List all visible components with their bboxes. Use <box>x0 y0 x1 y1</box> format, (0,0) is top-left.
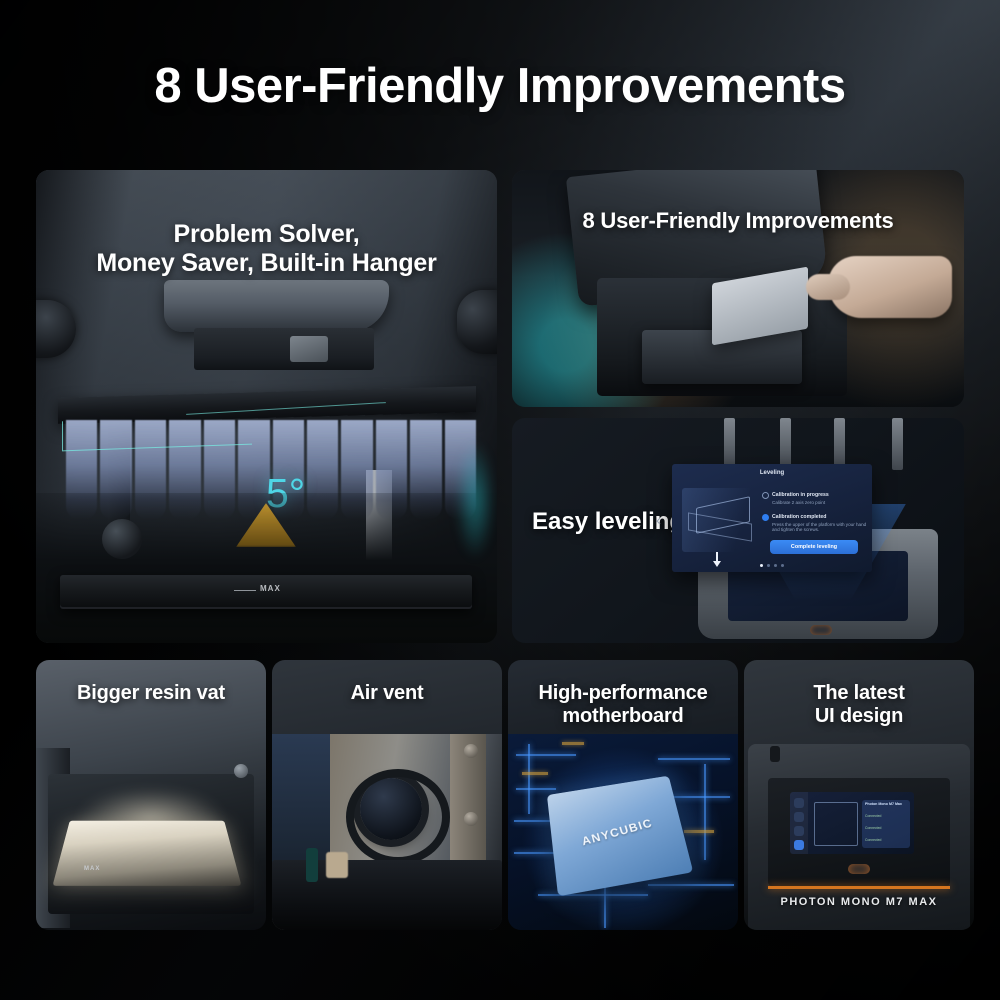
air-vent-cup <box>326 852 348 878</box>
resin-vat-photo: MAX <box>36 738 266 930</box>
improvements-hand <box>828 256 952 318</box>
printer-status-2: Connected <box>865 826 881 830</box>
leveling-printer-illustration: Leveling Calibration in progress Calibra… <box>692 418 950 643</box>
resin-vat-bolt-icon <box>234 764 248 778</box>
printer-status-3: Connected <box>865 838 881 842</box>
anycubic-chip: ANYCUBIC <box>547 776 693 897</box>
printer-brand-label: PHOTON MONO M7 MAX <box>748 896 970 908</box>
hanger-carriage <box>194 328 374 370</box>
leveling-step-2-dot-icon <box>762 514 769 521</box>
card-motherboard-label: High-performance motherboard <box>508 682 738 728</box>
hanger-vat-max-mark: MAX <box>260 584 281 593</box>
leveling-diagram-icon <box>682 488 764 552</box>
card-resin-vat-label: Bigger resin vat <box>36 682 266 705</box>
card-air-vent[interactable]: Air vent <box>272 660 502 930</box>
hanger-resin-vat: MAX <box>60 575 472 609</box>
printer-model-preview-icon <box>814 802 858 846</box>
resin-vat-tray <box>52 821 241 886</box>
air-vent-fan-icon <box>360 778 422 840</box>
leveling-home-button-icon <box>810 625 832 635</box>
printer-front-body: Photon Mono M7 Max Connected Connected C… <box>748 744 970 930</box>
leveling-pagination-dots[interactable] <box>760 564 784 567</box>
leveling-prev-chevron-icon[interactable]: ‹ <box>656 512 661 529</box>
leveling-step-1-title: Calibration in progress <box>772 492 829 499</box>
hanger-hood <box>164 280 389 332</box>
card-hanger-label: Problem Solver, Money Saver, Built-in Ha… <box>36 220 497 278</box>
poster-root: 8 User-Friendly Improvements 5° MAX Prob… <box>0 0 1000 1000</box>
resin-vat-max-mark: MAX <box>84 866 100 872</box>
leveling-screen-callout[interactable]: Leveling Calibration in progress Calibra… <box>672 464 872 572</box>
hanger-port-icon <box>102 519 142 559</box>
ui-design-photo: Photon Mono M7 Max Connected Connected C… <box>744 734 974 930</box>
leveling-step-2-sub: Press the upper of the platform with you… <box>772 522 872 533</box>
card-user-friendly-improvements[interactable]: 8 User-Friendly Improvements <box>512 170 964 407</box>
leveling-down-arrow-icon <box>716 552 718 564</box>
air-vent-bolt-top-icon <box>464 744 478 758</box>
printer-screen-heading: Photon Mono M7 Max <box>865 802 902 806</box>
leveling-step-1[interactable]: Calibration in progress Calibrate 2 axis… <box>772 492 829 505</box>
complete-leveling-button[interactable]: Complete leveling <box>770 540 858 554</box>
card-ui-design-label: The latest UI design <box>744 682 974 728</box>
air-vent-bottle <box>306 848 318 882</box>
printer-home-button-icon[interactable] <box>848 864 870 874</box>
leveling-step-1-sub: Calibrate 2 axis zero point <box>772 500 829 506</box>
printer-screen-sidebar[interactable] <box>790 792 808 854</box>
card-built-in-hanger[interactable]: 5° MAX Problem Solver, Money Saver, Buil… <box>36 170 497 643</box>
printer-touchscreen[interactable]: Photon Mono M7 Max Connected Connected C… <box>790 792 914 854</box>
leveling-step-1-dot-icon <box>762 492 769 499</box>
leveling-step-2-title: Calibration completed <box>772 514 872 521</box>
hanger-teal-glow <box>455 440 495 560</box>
card-latest-ui-design[interactable]: Photon Mono M7 Max Connected Connected C… <box>744 660 974 930</box>
printer-top-knob-icon <box>770 746 780 762</box>
air-vent-photo <box>272 734 502 930</box>
printer-accent-strip <box>768 886 950 889</box>
card-easy-leveling[interactable]: Easy leveling Leveling Calibration in pr… <box>512 418 964 643</box>
card-high-performance-motherboard[interactable]: ANYCUBIC High-performance motherboard <box>508 660 738 930</box>
air-vent-bolt-bottom-icon <box>464 812 478 826</box>
card-improvements-label: 8 User-Friendly Improvements <box>512 208 964 234</box>
chip-label: ANYCUBIC <box>580 816 654 848</box>
printer-status-1: Connected <box>865 814 881 818</box>
card-bigger-resin-vat[interactable]: MAX Bigger resin vat <box>36 660 266 930</box>
leveling-screen-title: Leveling <box>672 470 872 476</box>
printer-status-card: Photon Mono M7 Max Connected Connected C… <box>862 800 910 848</box>
leveling-step-2[interactable]: Calibration completed Press the upper of… <box>772 514 872 533</box>
motherboard-photo: ANYCUBIC <box>508 734 738 930</box>
card-air-vent-label: Air vent <box>272 682 502 705</box>
hanger-right-knob-icon <box>457 290 497 354</box>
page-title: 8 User-Friendly Improvements <box>0 60 1000 114</box>
printer-control-face: Photon Mono M7 Max Connected Connected C… <box>768 778 950 886</box>
